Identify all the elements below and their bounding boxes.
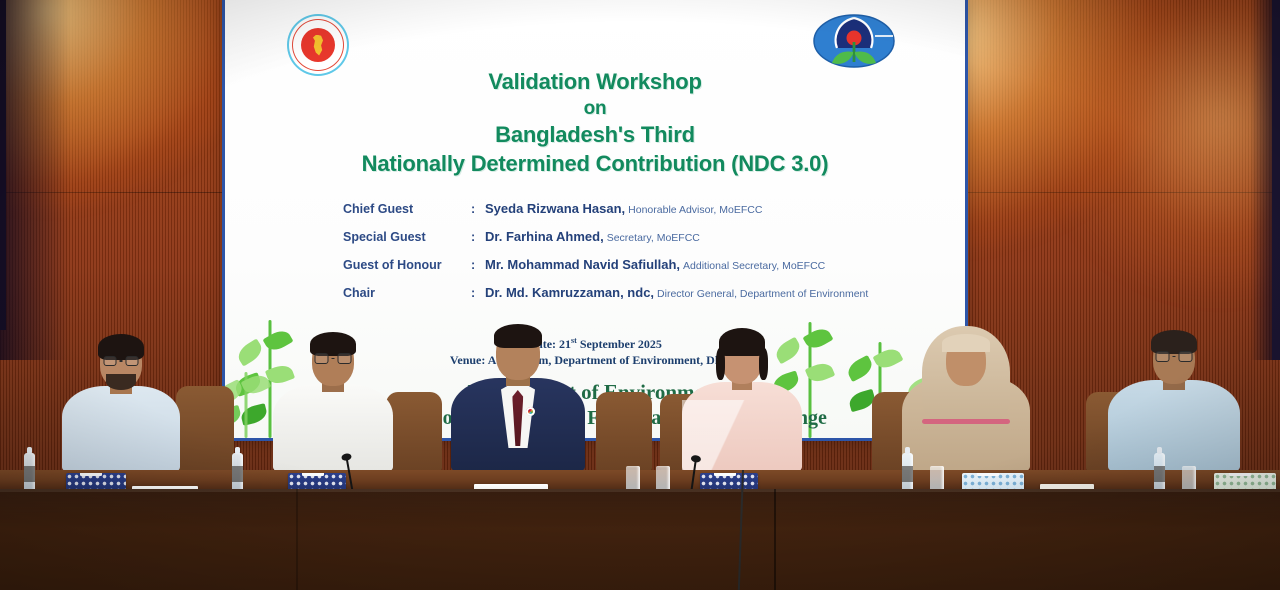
water-bottle — [902, 453, 913, 493]
guest-row: Chair : Dr. Md. Kamruzzaman, ndc, Direct… — [343, 285, 963, 300]
panelist-seat-6 — [1104, 324, 1244, 472]
guest-row: Chief Guest : Syeda Rizwana Hasan, Honor… — [343, 201, 963, 216]
panelist-torso — [1108, 380, 1240, 472]
panelist-torso — [62, 386, 180, 472]
hair-side-right — [759, 348, 768, 380]
eyeglasses-icon — [104, 356, 139, 366]
headscarf-pink-trim — [922, 419, 1010, 424]
water-bottle — [1154, 453, 1165, 493]
guest-colon: : — [471, 230, 485, 244]
guest-designation: Secretary, MoEFCC — [607, 232, 700, 244]
guest-designation: Honorable Advisor, MoEFCC — [628, 204, 762, 216]
panelist-hair — [719, 328, 765, 356]
guest-name: Dr. Farhina Ahmed, — [485, 229, 604, 244]
panelist-seat-3 — [448, 320, 588, 472]
slide-title: Validation Workshop on Bangladesh's Thir… — [225, 68, 965, 178]
guest-name: Mr. Mohammad Navid Safiullah, — [485, 257, 680, 272]
department-of-environment-logo-icon — [813, 12, 895, 70]
panelist-seat-2 — [268, 326, 398, 472]
guest-row: Guest of Honour : Mr. Mohammad Navid Saf… — [343, 257, 963, 272]
guest-role: Guest of Honour — [343, 258, 471, 272]
conference-photo: Validation Workshop on Bangladesh's Thir… — [0, 0, 1280, 590]
guest-role: Chief Guest — [343, 202, 471, 216]
hair-side-left — [716, 348, 725, 380]
wall-edge-right — [1272, 0, 1280, 360]
event-date-rest: September 2025 — [577, 337, 662, 351]
panelist-seat-4 — [678, 324, 806, 472]
water-bottle — [24, 453, 35, 493]
bangladesh-government-emblem-icon — [287, 14, 349, 76]
chair — [596, 392, 652, 472]
water-bottle — [232, 453, 243, 493]
eyeglasses-icon — [1156, 351, 1193, 362]
table-front-shadow — [0, 489, 1280, 529]
panelist-beard — [106, 374, 136, 390]
sdg-lapel-pin-icon — [526, 407, 535, 416]
title-line-3: Bangladesh's Third — [225, 121, 965, 150]
wall-shadow-left — [0, 0, 70, 360]
guest-name: Dr. Md. Kamruzzaman, ndc, — [485, 285, 654, 300]
guest-colon: : — [471, 258, 485, 272]
panelist-seat-1 — [56, 332, 186, 472]
panelist-hair — [494, 324, 542, 348]
title-line-2: on — [225, 97, 965, 122]
title-line-4: Nationally Determined Contribution (NDC … — [225, 150, 965, 179]
guest-designation: Director General, Department of Environm… — [657, 288, 868, 300]
guest-role: Special Guest — [343, 230, 471, 244]
guest-row: Special Guest : Dr. Farhina Ahmed, Secre… — [343, 229, 963, 244]
panelist-torso — [273, 384, 393, 472]
guest-colon: : — [471, 286, 485, 300]
eyeglasses-icon — [315, 353, 352, 364]
panelist-seat-5 — [898, 320, 1034, 472]
guest-name: Syeda Rizwana Hasan, — [485, 201, 625, 216]
guest-role: Chair — [343, 286, 471, 300]
title-line-1: Validation Workshop — [225, 68, 965, 97]
table-panel-seam — [774, 489, 776, 590]
guest-designation: Additional Secretary, MoEFCC — [683, 260, 825, 272]
table-panel-seam — [296, 489, 298, 590]
guest-list: Chief Guest : Syeda Rizwana Hasan, Honor… — [343, 201, 963, 313]
headscarf-front-edge — [942, 334, 990, 352]
guest-colon: : — [471, 202, 485, 216]
wall-edge-left — [0, 0, 6, 330]
